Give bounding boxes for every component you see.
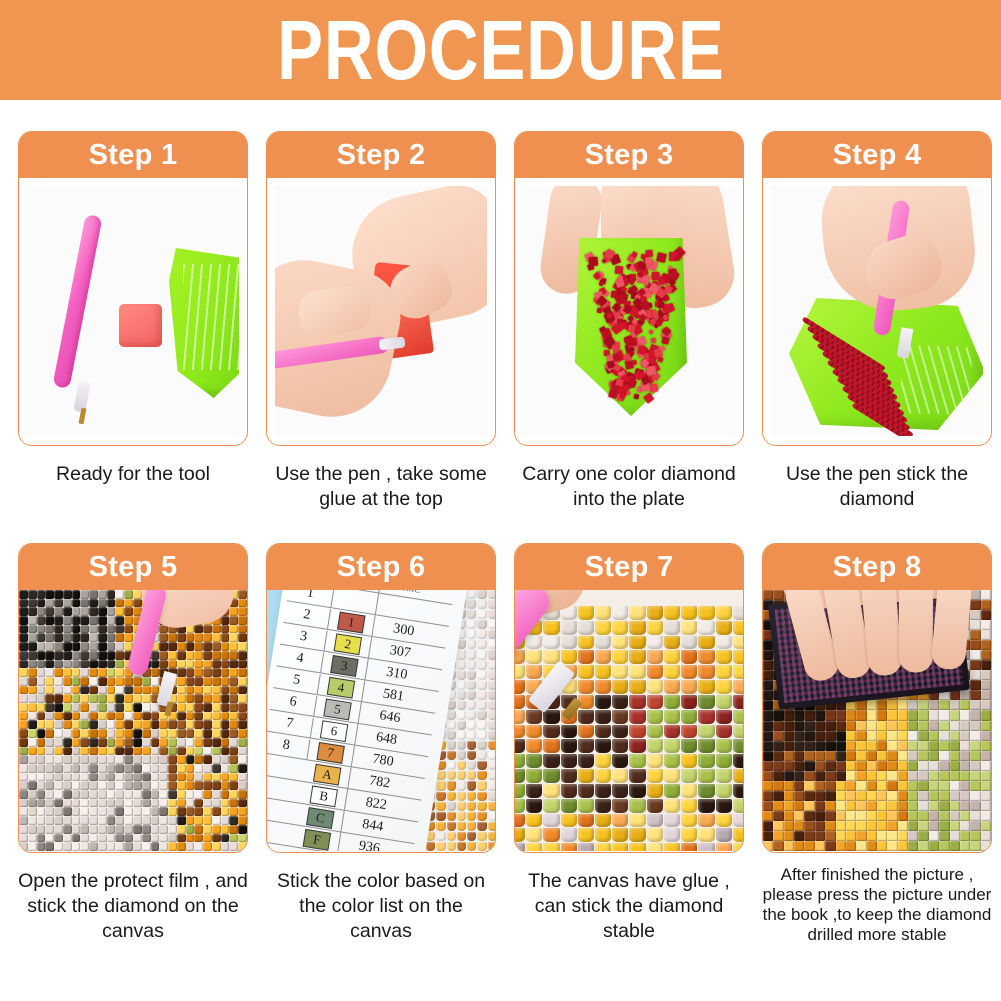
step-6-header: Step 6: [267, 544, 495, 590]
legend-dmc-code: [378, 604, 437, 613]
legend-symbol: A: [313, 763, 341, 785]
step-1-body: [19, 178, 247, 444]
step-1-photo: [27, 186, 239, 436]
step-8-header: Step 8: [763, 544, 991, 590]
step-5-photo: [19, 590, 247, 851]
colored-beads-icon: [515, 606, 743, 851]
steps-row-1: Step 1 Ready for the tool: [18, 131, 983, 512]
step-4-photo: [771, 186, 983, 436]
step-4-caption: Use the pen stick the diamond: [762, 462, 992, 512]
step-2-caption: Use the pen , take some glue at the top: [266, 462, 496, 512]
legend-row-number: [267, 785, 302, 792]
step-card-6[interactable]: Step 6 No.SymbolDMC121300323074331054581…: [266, 543, 496, 944]
color-legend-table: No.SymbolDMC1213003230743310545816564676…: [267, 590, 455, 851]
sunflower-mosaic-icon: [19, 590, 247, 851]
step-8-header-label: Step 8: [833, 552, 922, 582]
step-2-header: Step 2: [267, 132, 495, 178]
step-3-photo: [523, 186, 735, 436]
finger-icon: [899, 590, 933, 672]
step-5-caption: Open the protect film , and stick the di…: [18, 869, 248, 944]
step-5-header-label: Step 5: [89, 552, 178, 582]
step-5-header: Step 5: [19, 544, 247, 590]
step-6-caption: Stick the color based on the color list …: [266, 869, 496, 944]
step-card-4[interactable]: Step 4 Use the pen stick the diamo: [762, 131, 992, 512]
step-7-header: Step 7: [515, 544, 743, 590]
step-7-body: [515, 590, 743, 851]
step-2-photo: [275, 186, 487, 436]
step-8-card-frame: Step 8: [762, 543, 992, 853]
legend-row-number: [267, 764, 306, 771]
step-card-8[interactable]: Step 8 After finished the picture , plea…: [762, 543, 992, 945]
steps-row-2: Step 5 Open the protect film , and stick…: [18, 543, 983, 945]
step-4-header: Step 4: [763, 132, 991, 178]
red-diamonds-icon: [585, 248, 677, 398]
fingers-icon: [778, 590, 971, 694]
legend-symbol: 5: [323, 698, 351, 720]
page-title: PROCEDURE: [277, 7, 725, 93]
step-7-photo: [515, 590, 743, 851]
step-5-card-frame: Step 5: [18, 543, 248, 853]
color-chart-scene: No.SymbolDMC1213003230743310545816564676…: [267, 590, 495, 851]
legend-symbol: 6: [320, 720, 348, 742]
step-3-body: [515, 178, 743, 444]
legend-symbol: 4: [327, 676, 355, 698]
step-8-photo: [763, 590, 991, 851]
legend-symbol: 7: [316, 741, 344, 763]
step-2-card-frame: Step 2: [266, 131, 496, 446]
legend-row-number: [267, 829, 295, 836]
legend-symbol: B: [310, 785, 338, 807]
step-card-1[interactable]: Step 1 Ready for the tool: [18, 131, 248, 487]
step-1-header: Step 1: [19, 132, 247, 178]
step-8-caption: After finished the picture , please pres…: [754, 865, 1000, 945]
step-1-header-label: Step 1: [89, 140, 178, 170]
step-card-3[interactable]: Step 3 Carry one color diamond into the …: [514, 131, 744, 512]
step-1-caption: Ready for the tool: [18, 462, 248, 487]
step-6-photo: No.SymbolDMC1213003230743310545816564676…: [267, 590, 495, 851]
step-6-header-label: Step 6: [337, 552, 426, 582]
step-8-body: [763, 590, 991, 851]
step-card-7[interactable]: Step 7 The canvas have glue , can stick …: [514, 543, 744, 944]
legend-row-number: [267, 807, 299, 814]
step-7-caption: The canvas have glue , can stick the dia…: [514, 869, 744, 944]
legend-symbol: F: [303, 828, 331, 850]
step-card-5[interactable]: Step 5 Open the protect film , and stick…: [18, 543, 248, 944]
legend-symbol: 2: [334, 633, 362, 655]
step-3-caption: Carry one color diamond into the plate: [514, 462, 744, 512]
step-2-body: [267, 178, 495, 444]
step-6-body: No.SymbolDMC1213003230743310545816564676…: [267, 590, 495, 851]
step-3-header-label: Step 3: [585, 140, 674, 170]
step-3-header: Step 3: [515, 132, 743, 178]
legend-symbol: 1: [337, 611, 365, 633]
step-card-2[interactable]: Step 2 Use the pen ,: [266, 131, 496, 512]
legend-symbol: 3: [330, 655, 358, 677]
step-3-card-frame: Step 3: [514, 131, 744, 446]
glue-wax-icon: [119, 304, 162, 347]
step-2-header-label: Step 2: [337, 140, 426, 170]
step-1-card-frame: Step 1: [18, 131, 248, 446]
step-6-card-frame: Step 6 No.SymbolDMC121300323074331054581…: [266, 543, 496, 853]
step-4-body: [763, 178, 991, 444]
step-5-body: [19, 590, 247, 851]
step-4-header-label: Step 4: [833, 140, 922, 170]
step-4-card-frame: Step 4: [762, 131, 992, 446]
steps-grid: Step 1 Ready for the tool: [0, 131, 1001, 945]
legend-symbol: C: [306, 807, 334, 829]
step-7-header-label: Step 7: [585, 552, 674, 582]
finger-icon: [931, 590, 973, 671]
step-7-card-frame: Step 7: [514, 543, 744, 853]
page-banner: PROCEDURE: [0, 0, 1001, 100]
